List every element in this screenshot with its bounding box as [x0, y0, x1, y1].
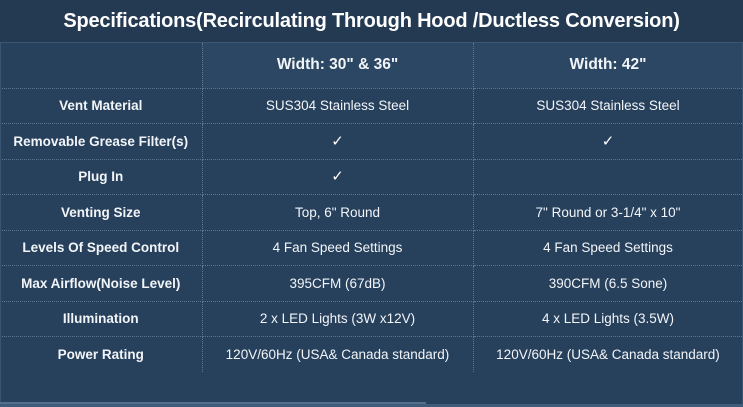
cell-width-30-36: 2 x LED Lights (3W x12V)	[202, 301, 473, 337]
table-head: Width: 30" & 36" Width: 42"	[0, 43, 743, 88]
column-header-width-42: Width: 42"	[473, 43, 743, 88]
row-label-cell: Illumination	[0, 301, 202, 337]
check-icon: ✓	[331, 134, 344, 149]
cell-width-30-36: 120V/60Hz (USA& Canada standard)	[202, 337, 473, 373]
table-header-row: Width: 30" & 36" Width: 42"	[0, 43, 743, 88]
table-title-band: Specifications(Recirculating Through Hoo…	[0, 0, 743, 43]
row-label-cell: Venting Size	[0, 195, 202, 231]
row-label-cell: Vent Material	[0, 88, 202, 124]
cell-width-42: SUS304 Stainless Steel	[473, 88, 743, 124]
cell-width-30-36: 4 Fan Speed Settings	[202, 230, 473, 266]
row-label-cell: Max Airflow(Noise Level)	[0, 266, 202, 302]
column-header-label	[0, 43, 202, 88]
column-header-width-30-36: Width: 30" & 36"	[202, 43, 473, 88]
table-row: Power Rating120V/60Hz (USA& Canada stand…	[0, 337, 743, 373]
cell-width-30-36: SUS304 Stainless Steel	[202, 88, 473, 124]
cell-width-30-36: 395CFM (67dB)	[202, 266, 473, 302]
cell-width-42	[473, 159, 743, 195]
table-row: Illumination2 x LED Lights (3W x12V)4 x …	[0, 301, 743, 337]
row-label-cell: Power Rating	[0, 337, 202, 373]
row-label-cell: Removable Grease Filter(s)	[0, 124, 202, 160]
table-body: Vent MaterialSUS304 Stainless SteelSUS30…	[0, 88, 743, 372]
page-title: Specifications(Recirculating Through Hoo…	[63, 10, 679, 33]
cell-width-42: ✓	[473, 124, 743, 160]
table-row: Plug In✓	[0, 159, 743, 195]
cell-width-30-36: ✓	[202, 124, 473, 160]
cell-width-42: 4 Fan Speed Settings	[473, 230, 743, 266]
table-row: Levels Of Speed Control4 Fan Speed Setti…	[0, 230, 743, 266]
cell-width-30-36: Top, 6" Round	[202, 195, 473, 231]
cell-width-42: 7" Round or 3-1/4" x 10"	[473, 195, 743, 231]
table-row: Venting SizeTop, 6" Round7" Round or 3-1…	[0, 195, 743, 231]
cell-width-42: 390CFM (6.5 Sone)	[473, 266, 743, 302]
specifications-table-panel: Specifications(Recirculating Through Hoo…	[0, 0, 743, 407]
check-icon: ✓	[331, 169, 344, 184]
specifications-table: Width: 30" & 36" Width: 42" Vent Materia…	[0, 43, 743, 372]
table-row: Vent MaterialSUS304 Stainless SteelSUS30…	[0, 88, 743, 124]
table-row: Removable Grease Filter(s)✓✓	[0, 124, 743, 160]
cell-width-42: 4 x LED Lights (3.5W)	[473, 301, 743, 337]
cell-width-30-36: ✓	[202, 159, 473, 195]
row-label-cell: Levels Of Speed Control	[0, 230, 202, 266]
row-label-cell: Plug In	[0, 159, 202, 195]
table-left-edge	[0, 43, 1, 407]
cell-width-42: 120V/60Hz (USA& Canada standard)	[473, 337, 743, 373]
check-icon: ✓	[602, 134, 615, 149]
table-row: Max Airflow(Noise Level)395CFM (67dB)390…	[0, 266, 743, 302]
